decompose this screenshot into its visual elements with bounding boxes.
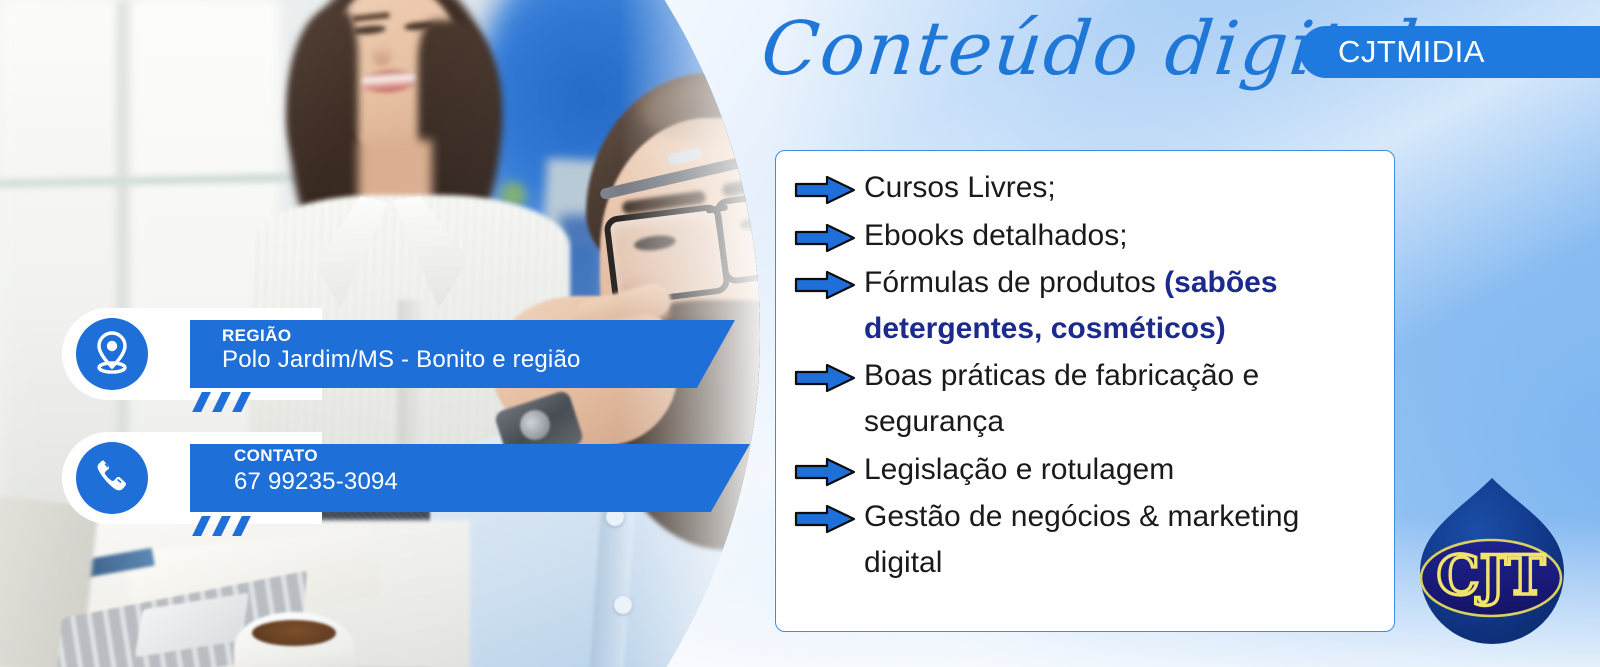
list-item-text: Fórmulas de produtos (sabões detergentes… bbox=[864, 260, 1384, 351]
contact-stripes bbox=[197, 516, 289, 536]
list-item: Fórmulas de produtos (sabões detergentes… bbox=[794, 260, 1384, 351]
promo-banner: Conteúdo digital CJTMIDIA Cursos Livres; bbox=[0, 0, 1600, 667]
feature-list: Cursos Livres; Ebooks detalhados; Fórmul… bbox=[794, 165, 1384, 585]
list-item-text: Boas práticas de fabricação e segurança bbox=[864, 353, 1384, 444]
phone-icon bbox=[93, 457, 131, 500]
list-item-text-plain: Fórmulas de produtos bbox=[864, 266, 1164, 299]
brand-label: CJTMIDIA bbox=[1338, 34, 1485, 70]
content-card: Cursos Livres; Ebooks detalhados; Fórmul… bbox=[775, 150, 1395, 632]
brand-badge: CJTMIDIA bbox=[1300, 26, 1600, 78]
contact-info-banner: CONTATO 67 99235-3094 bbox=[62, 432, 722, 524]
list-item: Ebooks detalhados; bbox=[794, 213, 1384, 259]
region-info-banner: REGIÃO Polo Jardim/MS - Bonito e região bbox=[62, 308, 722, 400]
arrow-right-icon bbox=[794, 457, 856, 492]
contact-label: CONTATO bbox=[234, 446, 318, 466]
cjt-monogram: CJT bbox=[1437, 543, 1546, 607]
list-item-text: Cursos Livres; bbox=[864, 165, 1056, 211]
region-icon-circle bbox=[76, 318, 148, 390]
list-item: Gestão de negócios & marketing digital bbox=[794, 494, 1384, 585]
region-value: Polo Jardim/MS - Bonito e região bbox=[222, 346, 581, 374]
contact-icon-circle bbox=[76, 442, 148, 514]
arrow-right-icon bbox=[794, 175, 856, 210]
list-item: Boas práticas de fabricação e segurança bbox=[794, 353, 1384, 444]
region-stripes bbox=[197, 392, 289, 412]
list-item-text: Legislação e rotulagem bbox=[864, 447, 1174, 493]
location-pin-icon bbox=[92, 330, 132, 379]
region-label: REGIÃO bbox=[222, 326, 291, 346]
contact-value: 67 99235-3094 bbox=[234, 468, 398, 496]
list-item: Legislação e rotulagem bbox=[794, 447, 1384, 493]
arrow-right-icon bbox=[794, 363, 856, 398]
arrow-right-icon bbox=[794, 223, 856, 258]
arrow-right-icon bbox=[794, 270, 856, 305]
arrow-right-icon bbox=[794, 504, 856, 539]
cjt-logo: CJT bbox=[1396, 468, 1586, 658]
list-item: Cursos Livres; bbox=[794, 165, 1384, 211]
list-item-text: Gestão de negócios & marketing digital bbox=[864, 494, 1384, 585]
list-item-text: Ebooks detalhados; bbox=[864, 213, 1128, 259]
